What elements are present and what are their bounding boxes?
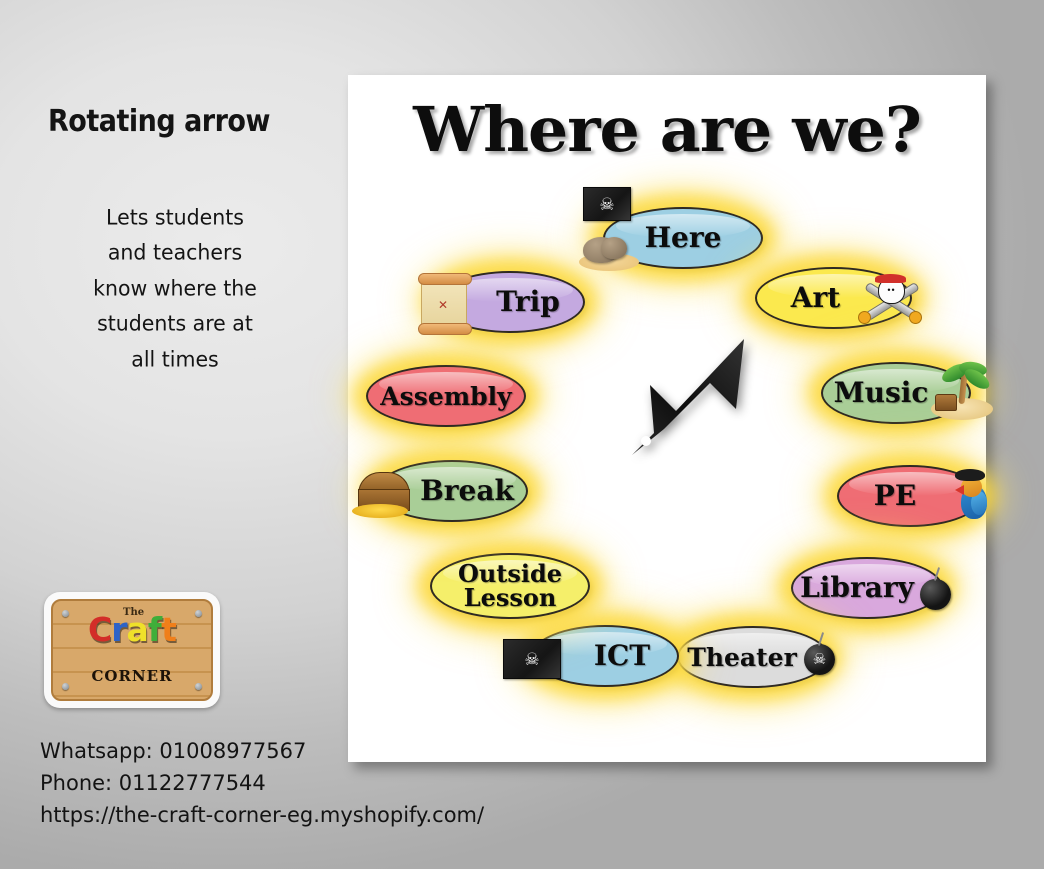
- logo-letter: t: [161, 613, 176, 646]
- oval-label: Break: [420, 477, 514, 505]
- oval-outside-lesson[interactable]: Outside Lesson: [430, 553, 590, 619]
- oval-label: Art: [791, 284, 840, 312]
- rotating-arrow[interactable]: [624, 325, 764, 465]
- oval-label: ICT: [594, 642, 650, 670]
- blurb-line: students are at: [50, 306, 300, 341]
- logo-letter: C: [88, 613, 111, 646]
- card-title: Where are we?: [342, 93, 993, 166]
- pirate-parrot-icon: [953, 469, 995, 521]
- logo-letter: r: [111, 613, 126, 646]
- product-preview-card: Where are we? ☠ Here Art •• Music: [348, 75, 986, 762]
- palm-island-icon: [929, 358, 995, 420]
- website-link[interactable]: https://the-craft-corner-eg.myshopify.co…: [40, 800, 484, 832]
- oval-music[interactable]: Music: [821, 362, 971, 424]
- arrow-icon[interactable]: [624, 325, 764, 465]
- blurb-line: and teachers: [50, 235, 300, 270]
- wooden-sign-icon: The Craft CORNER: [51, 599, 213, 701]
- bomb-icon: [920, 579, 951, 610]
- oval-library[interactable]: Library: [791, 557, 943, 619]
- treasure-chest-icon: [356, 472, 410, 518]
- oval-label: Music: [834, 379, 929, 407]
- treasure-map-scroll-icon: ✕: [421, 277, 467, 331]
- oval-assembly[interactable]: Assembly: [366, 365, 526, 427]
- page-title: Rotating arrow: [48, 104, 270, 139]
- description-text: Lets students and teachers know where th…: [50, 200, 300, 377]
- jolly-roger-flag-icon: ☠: [503, 639, 561, 679]
- oval-art[interactable]: Art ••: [755, 267, 912, 329]
- left-info-panel: Rotating arrow Lets students and teacher…: [0, 0, 348, 869]
- blurb-line: all times: [50, 342, 300, 377]
- logo-corner-text: CORNER: [53, 667, 211, 685]
- skull-bomb-icon: ☠: [804, 644, 835, 675]
- oval-label: Assembly: [380, 384, 511, 409]
- logo-letter: f: [148, 613, 161, 646]
- pirate-flag-icon: ☠: [583, 187, 631, 221]
- oval-ict[interactable]: ☠ ICT: [531, 625, 679, 687]
- logo-craft-text: Craft: [61, 613, 203, 646]
- oval-pe[interactable]: PE: [837, 465, 983, 527]
- oval-label: Here: [645, 224, 722, 252]
- poster-canvas: Rotating arrow Lets students and teacher…: [0, 0, 1044, 869]
- crossed-swords-skull-icon: ••: [858, 275, 922, 325]
- oval-break[interactable]: Break: [376, 460, 528, 522]
- oval-here[interactable]: ☠ Here: [603, 207, 763, 269]
- logo-letter: a: [127, 613, 148, 646]
- oval-theater[interactable]: Theater ☠: [677, 626, 829, 688]
- blurb-line: Lets students: [50, 200, 300, 235]
- brand-logo: The Craft CORNER: [44, 592, 220, 708]
- oval-label: Outside Lesson: [458, 562, 562, 610]
- blurb-line: know where the: [50, 271, 300, 306]
- phone-line: Phone: 01122777544: [40, 768, 484, 800]
- oval-trip[interactable]: ✕ Trip: [435, 271, 585, 333]
- oval-label: Theater: [687, 645, 797, 670]
- oval-label: Trip: [496, 288, 560, 316]
- rock-icon: [601, 237, 627, 259]
- oval-label: Library: [800, 574, 914, 602]
- oval-label: PE: [874, 482, 916, 510]
